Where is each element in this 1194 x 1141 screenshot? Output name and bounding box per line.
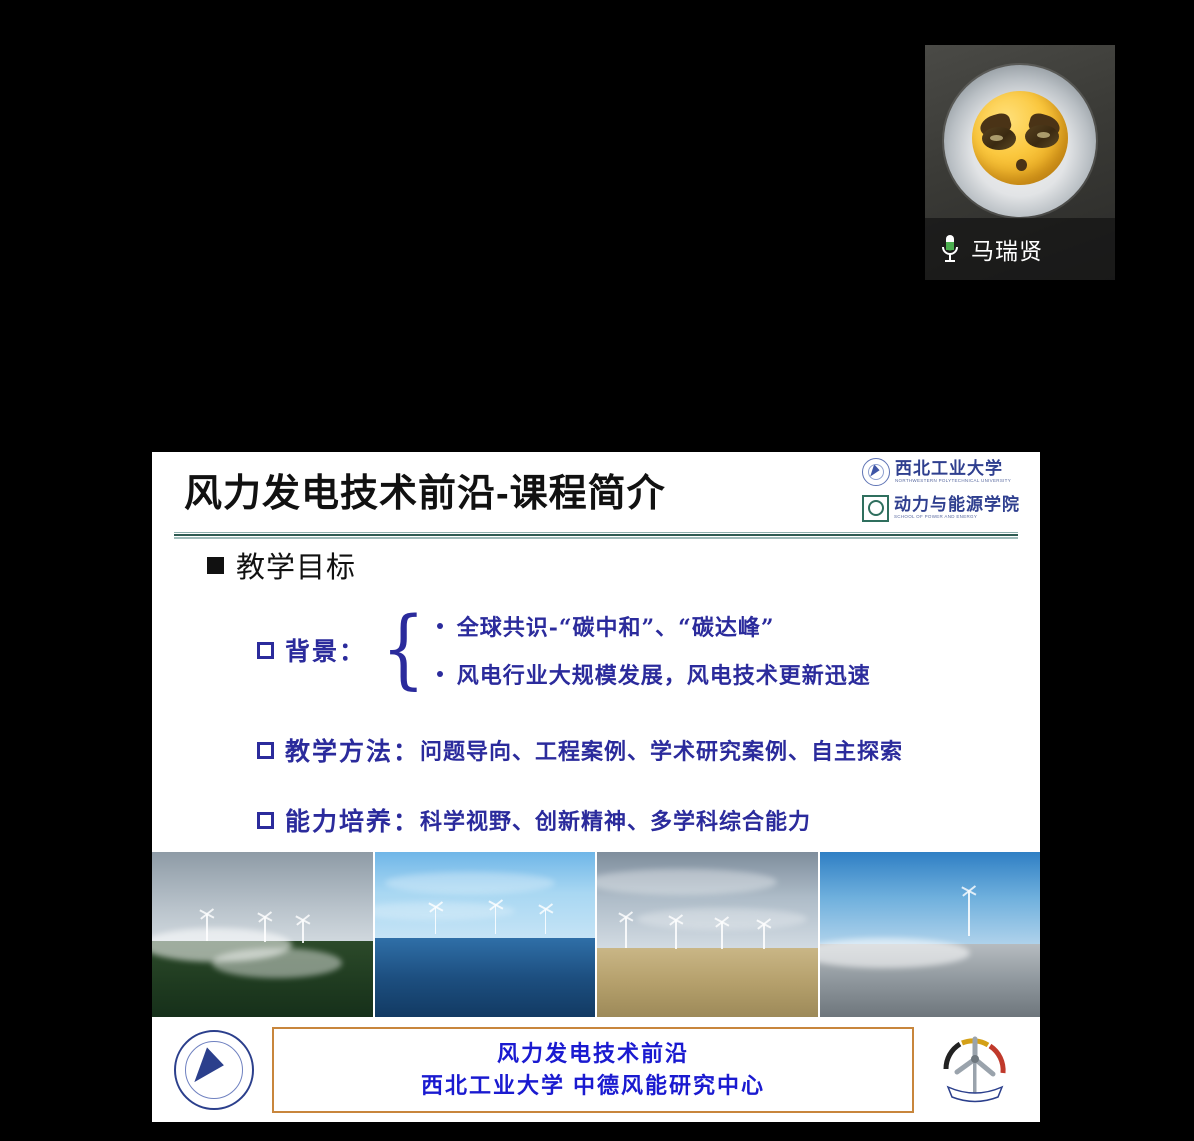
wind-turbine-logo-icon (932, 1027, 1018, 1113)
round-bullet-icon (437, 671, 443, 677)
turbine-icon (302, 921, 304, 943)
turbine-icon (206, 915, 208, 941)
npu-seal-icon (174, 1030, 254, 1110)
school-name-cn: 动力与能源学院 (894, 495, 1020, 514)
footer-text-box: 风力发电技术前沿 西北工业大学 中德风能研究中心 (272, 1027, 914, 1113)
hollow-square-bullet-icon (257, 642, 274, 659)
round-bullet-icon (437, 623, 443, 629)
ground-region (597, 948, 818, 1017)
participant-video-tile[interactable]: 马瑞贤 (925, 45, 1115, 280)
right-eye-icon (1025, 125, 1059, 148)
npu-seal-icon (862, 458, 890, 486)
fruit-face (972, 91, 1068, 185)
list-item: 风电行业大规模发展，风电技术更新迅速 (437, 658, 871, 690)
item-teaching-method-value: 问题导向、工程案例、学术研究案例、自主探索 (420, 734, 903, 766)
power-energy-mark-icon (862, 495, 889, 522)
list-item: 全球共识-“碳中和”、“碳达峰” (437, 610, 871, 642)
slide-body: 教学目标 背景： { 全球共识-“碳中和”、“碳达峰” 风电行业大规模发展，风电… (152, 544, 1040, 838)
hollow-square-bullet-icon (257, 812, 274, 829)
background-label: 背景： (285, 632, 366, 668)
mouth-icon (1016, 159, 1027, 171)
slide-header: 风力发电技术前沿-课程简介 西北工业大学 NORTHWESTERN POLYTE… (152, 452, 1040, 530)
background-bullet-list: 全球共识-“碳中和”、“碳达峰” 风电行业大规模发展，风电技术更新迅速 (437, 610, 871, 690)
background-group: 背景： { 全球共识-“碳中和”、“碳达峰” 风电行业大规模发展，风电技术更新迅… (257, 610, 1040, 690)
photo-strip (152, 852, 1040, 1017)
cloud (212, 948, 342, 978)
item-ability-training-label: 能力培养： (285, 802, 420, 838)
heading-objectives-label: 教学目标 (236, 544, 356, 586)
curly-brace-icon: { (381, 616, 425, 683)
right-eye-glint (1037, 132, 1050, 138)
forest-mountain-wind-farm-photo (152, 852, 375, 1017)
cloud (385, 872, 555, 894)
participant-name: 马瑞贤 (971, 232, 1043, 266)
title-divider (174, 532, 1018, 539)
heading-objectives: 教学目标 (207, 544, 1040, 586)
footer-line-1: 风力发电技术前沿 (274, 1038, 912, 1070)
hollow-square-bullet-icon (257, 742, 274, 759)
rocky-mountain-wind-farm-photo (820, 852, 1041, 1017)
left-eye-glint (990, 135, 1003, 141)
avatar (944, 65, 1096, 217)
left-eye-icon (982, 127, 1016, 150)
institution-logos: 西北工业大学 NORTHWESTERN POLYTECHNICAL UNIVER… (862, 456, 1032, 524)
offshore-ocean-wind-farm-photo (375, 852, 598, 1017)
turbine-icon (264, 918, 266, 942)
background-bullet-1: 全球共识-“碳中和”、“碳达峰” (457, 610, 775, 642)
item-ability-training-value: 科学视野、创新精神、多学科综合能力 (420, 804, 811, 836)
turbine-icon (545, 910, 547, 934)
grassland-plain-wind-farm-photo (597, 852, 820, 1017)
turbine-icon (763, 925, 765, 949)
university-name-en: NORTHWESTERN POLYTECHNICAL UNIVERSITY (895, 479, 1011, 484)
turbine-icon (435, 908, 437, 934)
turbine-icon (495, 906, 497, 934)
background-bullet-2: 风电行业大规模发展，风电技术更新迅速 (457, 658, 871, 690)
school-logo: 动力与能源学院 SCHOOL OF POWER AND ENERGY (862, 492, 1032, 524)
item-teaching-method: 教学方法： 问题导向、工程案例、学术研究案例、自主探索 (257, 732, 1040, 768)
participant-label-bar: 马瑞贤 (925, 218, 1115, 280)
turbine-icon (968, 892, 970, 936)
slide-footer: 风力发电技术前沿 西北工业大学 中德风能研究中心 (152, 1018, 1040, 1122)
footer-line-2: 西北工业大学 中德风能研究中心 (274, 1070, 912, 1102)
slide-title: 风力发电技术前沿-课程简介 (184, 462, 666, 517)
university-logo: 西北工业大学 NORTHWESTERN POLYTECHNICAL UNIVER… (862, 456, 1032, 488)
presentation-slide[interactable]: 风力发电技术前沿-课程简介 西北工业大学 NORTHWESTERN POLYTE… (152, 452, 1040, 1122)
school-name-en: SCHOOL OF POWER AND ENERGY (894, 515, 1020, 520)
sky-region (597, 852, 818, 954)
item-teaching-method-label: 教学方法： (285, 732, 420, 768)
turbine-icon (675, 921, 677, 949)
ocean-region (375, 938, 596, 1017)
turbine-icon (721, 923, 723, 949)
microphone-icon[interactable] (939, 233, 961, 265)
item-ability-training: 能力培养： 科学视野、创新精神、多学科综合能力 (257, 802, 1040, 838)
university-name-cn: 西北工业大学 (895, 459, 1003, 478)
turbine-icon (625, 918, 627, 948)
cloud (597, 869, 777, 895)
filled-square-bullet-icon (207, 557, 224, 574)
